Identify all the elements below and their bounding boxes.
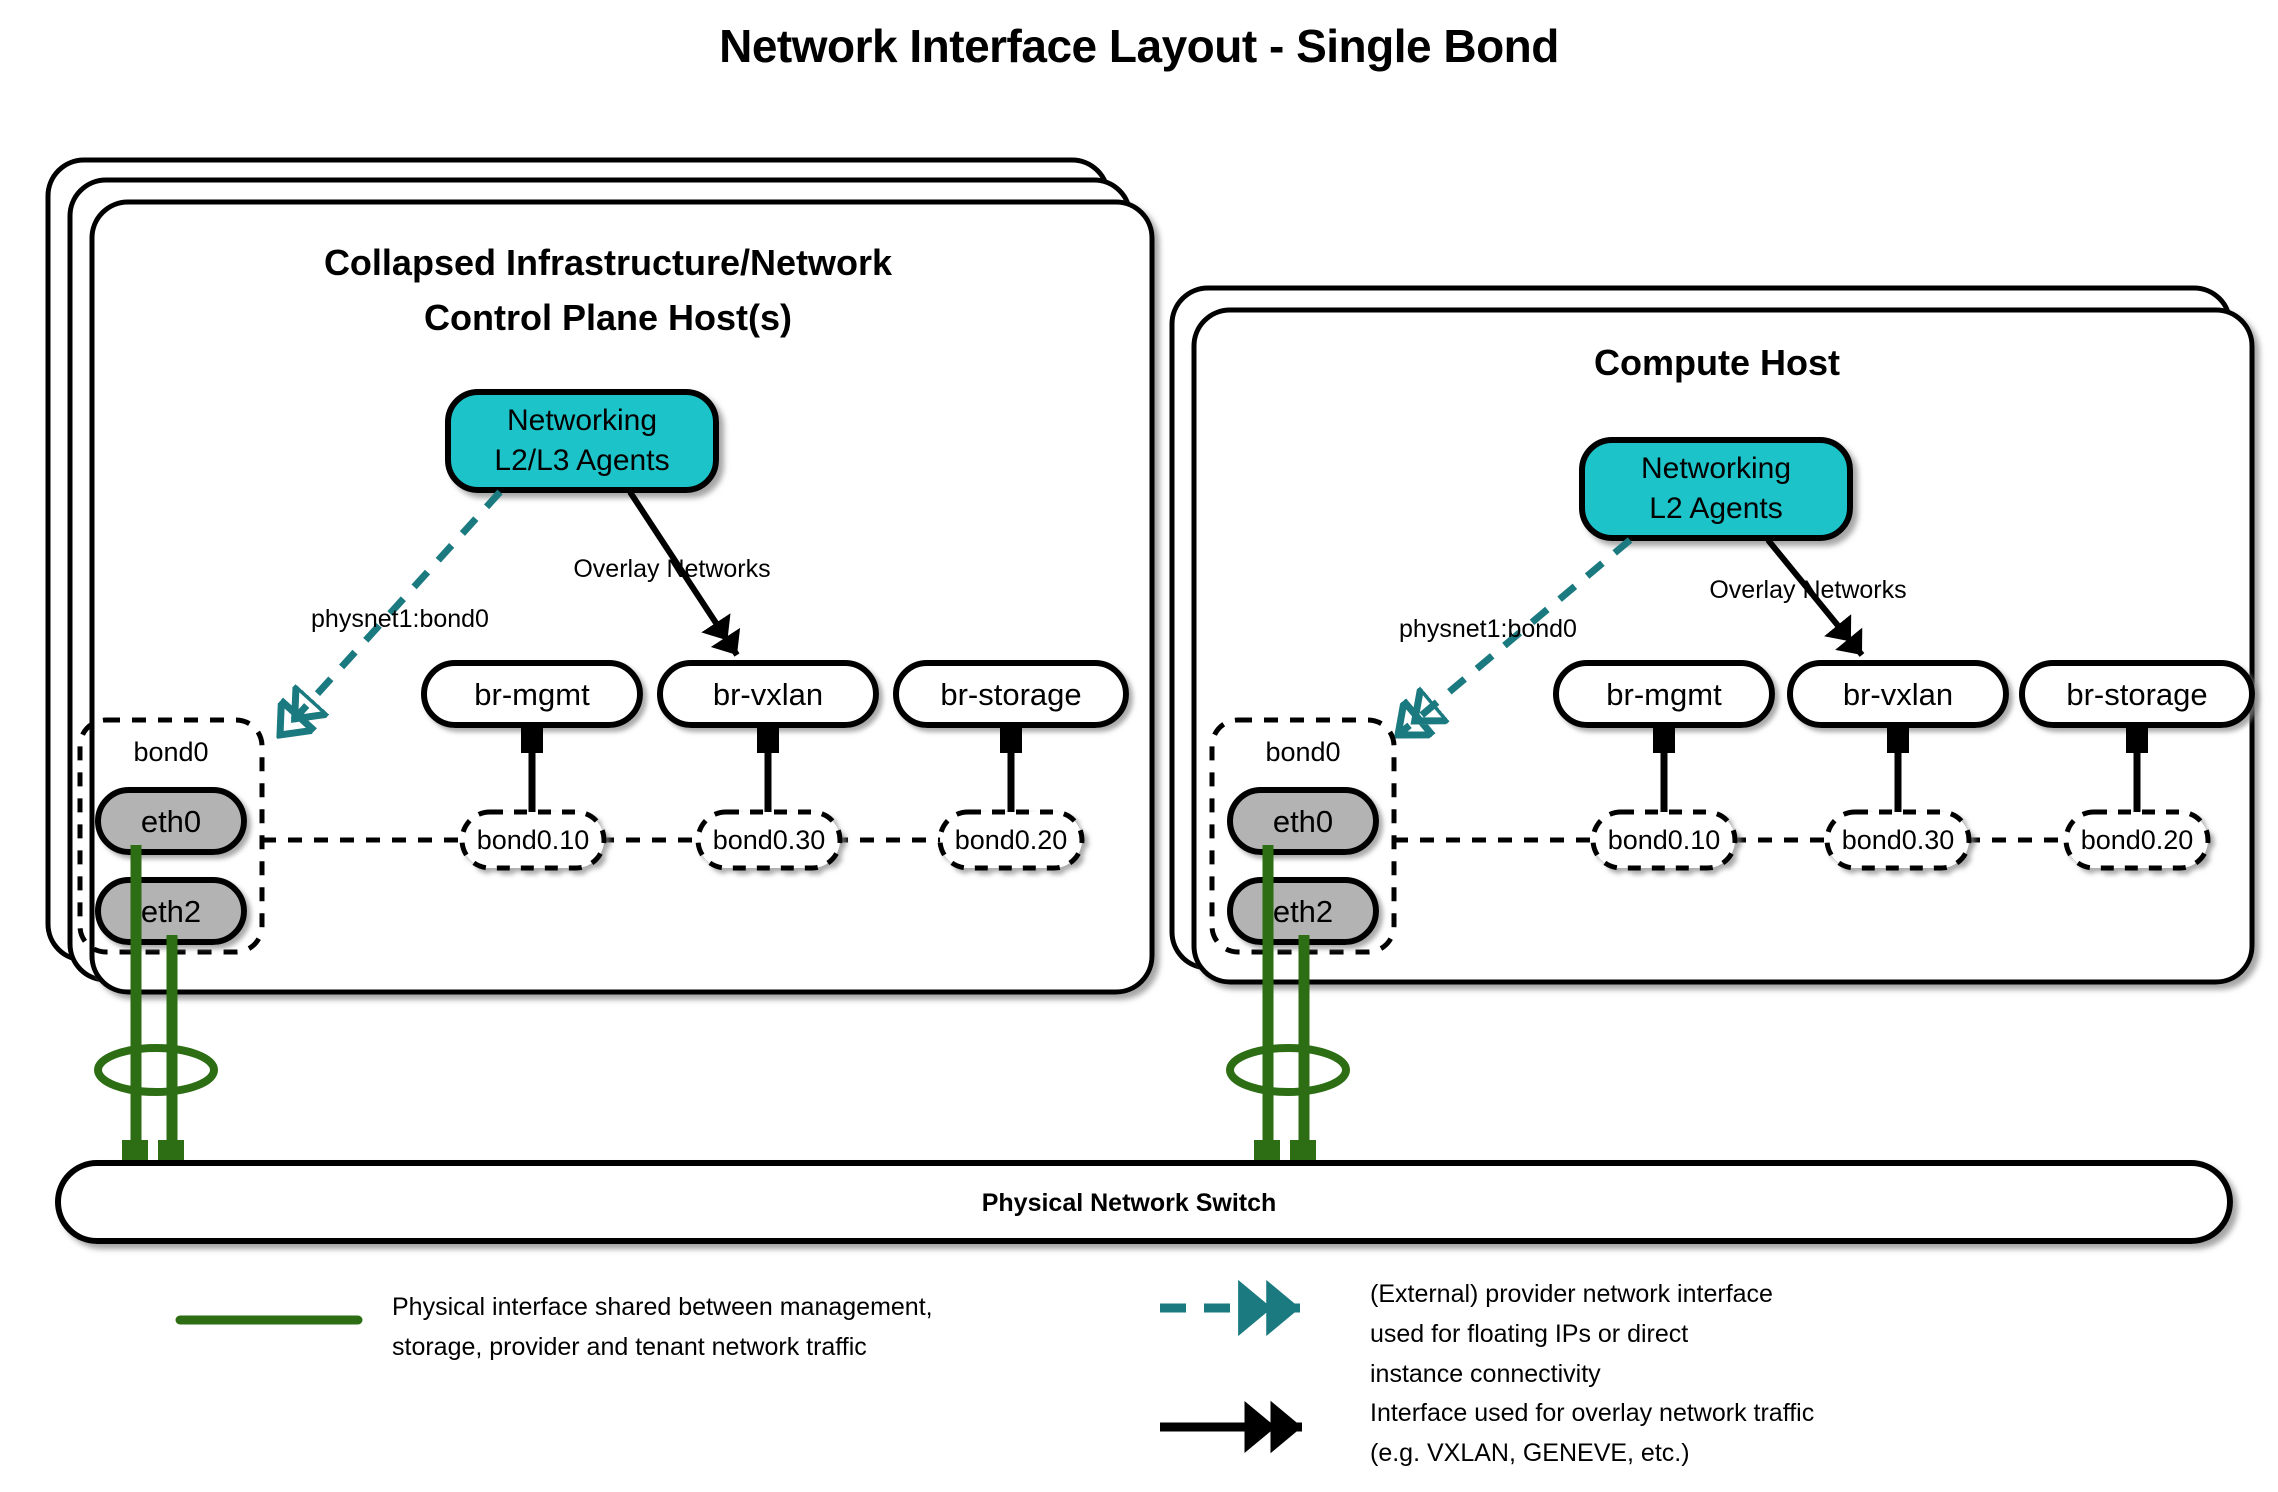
host-title-line1: Collapsed Infrastructure/Network: [324, 242, 893, 283]
host-panel-control[interactable]: Collapsed Infrastructure/Network Control…: [48, 160, 1152, 1172]
bridge-br-vxlan-label: br-vxlan: [713, 677, 823, 712]
legend-text-line: Interface used for overlay network traff…: [1370, 1399, 1814, 1427]
networking-agents-box[interactable]: Networking L2 Agents: [1582, 440, 1850, 538]
legend-text-line: (External) provider network interface: [1370, 1280, 1773, 1308]
physnet-label: physnet1:bond0: [1399, 615, 1577, 643]
page-title: Network Interface Layout - Single Bond: [719, 20, 1559, 72]
legend-text-line: instance connectivity: [1370, 1360, 1601, 1388]
legend-item-provider-network: (External) provider network interface us…: [1160, 1280, 1773, 1388]
legend-text-line: (e.g. VXLAN, GENEVE, etc.): [1370, 1439, 1690, 1467]
vlan-bond0-10-label: bond0.10: [477, 825, 590, 855]
nic-eth0-label: eth0: [141, 804, 201, 839]
physnet-label: physnet1:bond0: [311, 605, 489, 633]
bridge-br-vxlan-label: br-vxlan: [1843, 677, 1953, 712]
bond-label: bond0: [1265, 737, 1340, 767]
agents-label-line2: L2 Agents: [1649, 492, 1782, 525]
agents-label-line1: Networking: [1641, 452, 1791, 485]
switch-label: Physical Network Switch: [982, 1189, 1277, 1217]
vlan-bond0-30-label: bond0.30: [713, 825, 826, 855]
bridge-br-storage-label: br-storage: [2066, 677, 2207, 712]
overlay-label: Overlay Networks: [573, 555, 770, 583]
vlan-bond0-10-label: bond0.10: [1608, 825, 1721, 855]
vlan-bond0-20-label: bond0.20: [2081, 825, 2194, 855]
legend-text-line: Physical interface shared between manage…: [392, 1293, 933, 1321]
physical-network-switch[interactable]: Physical Network Switch: [58, 1163, 2230, 1241]
nic-eth2-label: eth2: [141, 894, 201, 929]
bridge-br-storage-label: br-storage: [940, 677, 1081, 712]
legend-text-line: storage, provider and tenant network tra…: [392, 1333, 867, 1361]
bond-ring-icon: [98, 1048, 214, 1092]
legend: Physical interface shared between manage…: [180, 1280, 1814, 1467]
diagram-canvas: Network Interface Layout - Single Bond C…: [0, 0, 2278, 1492]
bond-label: bond0: [133, 737, 208, 767]
network-layout-diagram: Network Interface Layout - Single Bond C…: [0, 0, 2278, 1492]
host-title-line1: Compute Host: [1594, 342, 1840, 383]
host-title-line2: Control Plane Host(s): [424, 297, 792, 338]
bridge-br-mgmt-label: br-mgmt: [474, 677, 590, 712]
bridge-br-mgmt-label: br-mgmt: [1606, 677, 1722, 712]
legend-text-line: used for floating IPs or direct: [1370, 1320, 1688, 1348]
legend-item-physical-interface: Physical interface shared between manage…: [180, 1293, 933, 1361]
nic-eth2-label: eth2: [1273, 894, 1333, 929]
vlan-bond0-30-label: bond0.30: [1842, 825, 1955, 855]
nic-eth0-label: eth0: [1273, 804, 1333, 839]
agents-label-line2: L2/L3 Agents: [494, 444, 669, 477]
legend-item-overlay-traffic: Interface used for overlay network traff…: [1160, 1399, 1814, 1467]
host-panel-compute[interactable]: Compute Host Networking L2 Agents physne…: [1172, 288, 2252, 1172]
vlan-bond0-20-label: bond0.20: [955, 825, 1068, 855]
networking-agents-box[interactable]: Networking L2/L3 Agents: [448, 392, 716, 490]
overlay-label: Overlay Networks: [1709, 576, 1906, 604]
agents-label-line1: Networking: [507, 404, 657, 437]
bond-ring-icon: [1230, 1048, 1346, 1092]
